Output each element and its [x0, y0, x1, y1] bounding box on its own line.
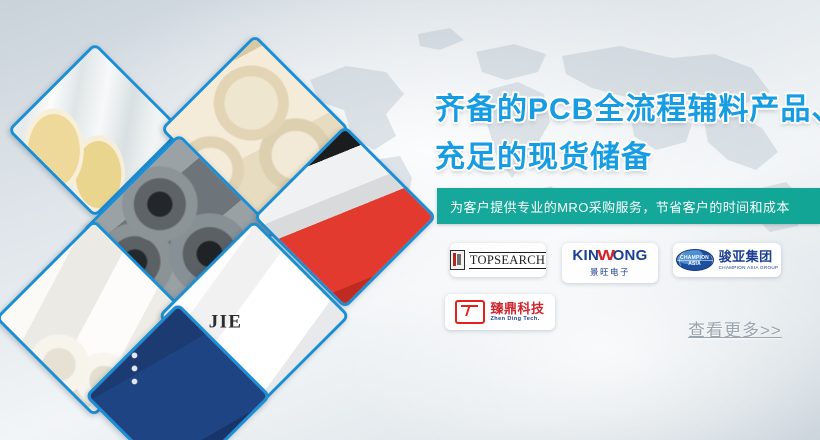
kinwong-chinese-name: 景旺电子	[590, 266, 630, 278]
zhen-ding-mark-icon	[455, 300, 485, 324]
logo-zhen-ding[interactable]: 臻鼎科技 Zhen Ding Tech.	[445, 294, 555, 330]
logo-topsearch[interactable]: TOPSEARCH	[450, 243, 546, 277]
kinwong-w-glyph: W	[597, 248, 615, 264]
banner-subtitle-bar: 为客户提供专业的MRO采购服务，节省客户的时间和成本	[437, 188, 820, 224]
champion-asia-globe-text: CHAMPION ASIA	[677, 255, 713, 267]
topsearch-wordmark: TOPSEARCH	[469, 252, 546, 269]
logo-kinwong[interactable]: KINWONG 景旺电子	[562, 243, 658, 283]
banner-headline: 齐备的PCB全流程辅料产品、 充足的现货储备	[435, 86, 820, 182]
headline-line-2: 充足的现货储备	[435, 134, 820, 182]
paper-brand-label: JIE	[209, 310, 243, 333]
promo-banner: JIE 齐备的PCB全流程辅料产品、 充足的现货储备 为客户提供专业的MRO采购…	[0, 0, 820, 440]
zhen-ding-chinese-name: 臻鼎科技	[490, 302, 544, 315]
champion-asia-chinese-name: 骏亚集团	[719, 250, 779, 263]
topsearch-mark-icon	[450, 250, 465, 270]
product-collage: JIE	[0, 0, 420, 440]
zhen-ding-english-name: Zhen Ding Tech.	[490, 316, 544, 322]
champion-asia-globe-icon: CHAMPION ASIA	[676, 249, 714, 271]
logo-champion-asia[interactable]: CHAMPION ASIA 骏亚集团 CHAMPION ASIA GROUP	[673, 243, 781, 277]
kinwong-word-tail: ONG	[613, 248, 648, 264]
kinwong-word-head: KIN	[572, 248, 599, 264]
banner-subtitle-text: 为客户提供专业的MRO采购服务，节省客户的时间和成本	[437, 197, 790, 216]
headline-line-1: 齐备的PCB全流程辅料产品、	[435, 93, 820, 126]
champion-asia-english-name: CHAMPION ASIA GROUP	[719, 265, 779, 270]
kinwong-wordmark: KINWONG	[572, 248, 647, 264]
banner-copy: 齐备的PCB全流程辅料产品、 充足的现货储备 为客户提供专业的MRO采购服务，节…	[430, 0, 820, 440]
view-more-link[interactable]: 查看更多>>	[688, 316, 782, 341]
